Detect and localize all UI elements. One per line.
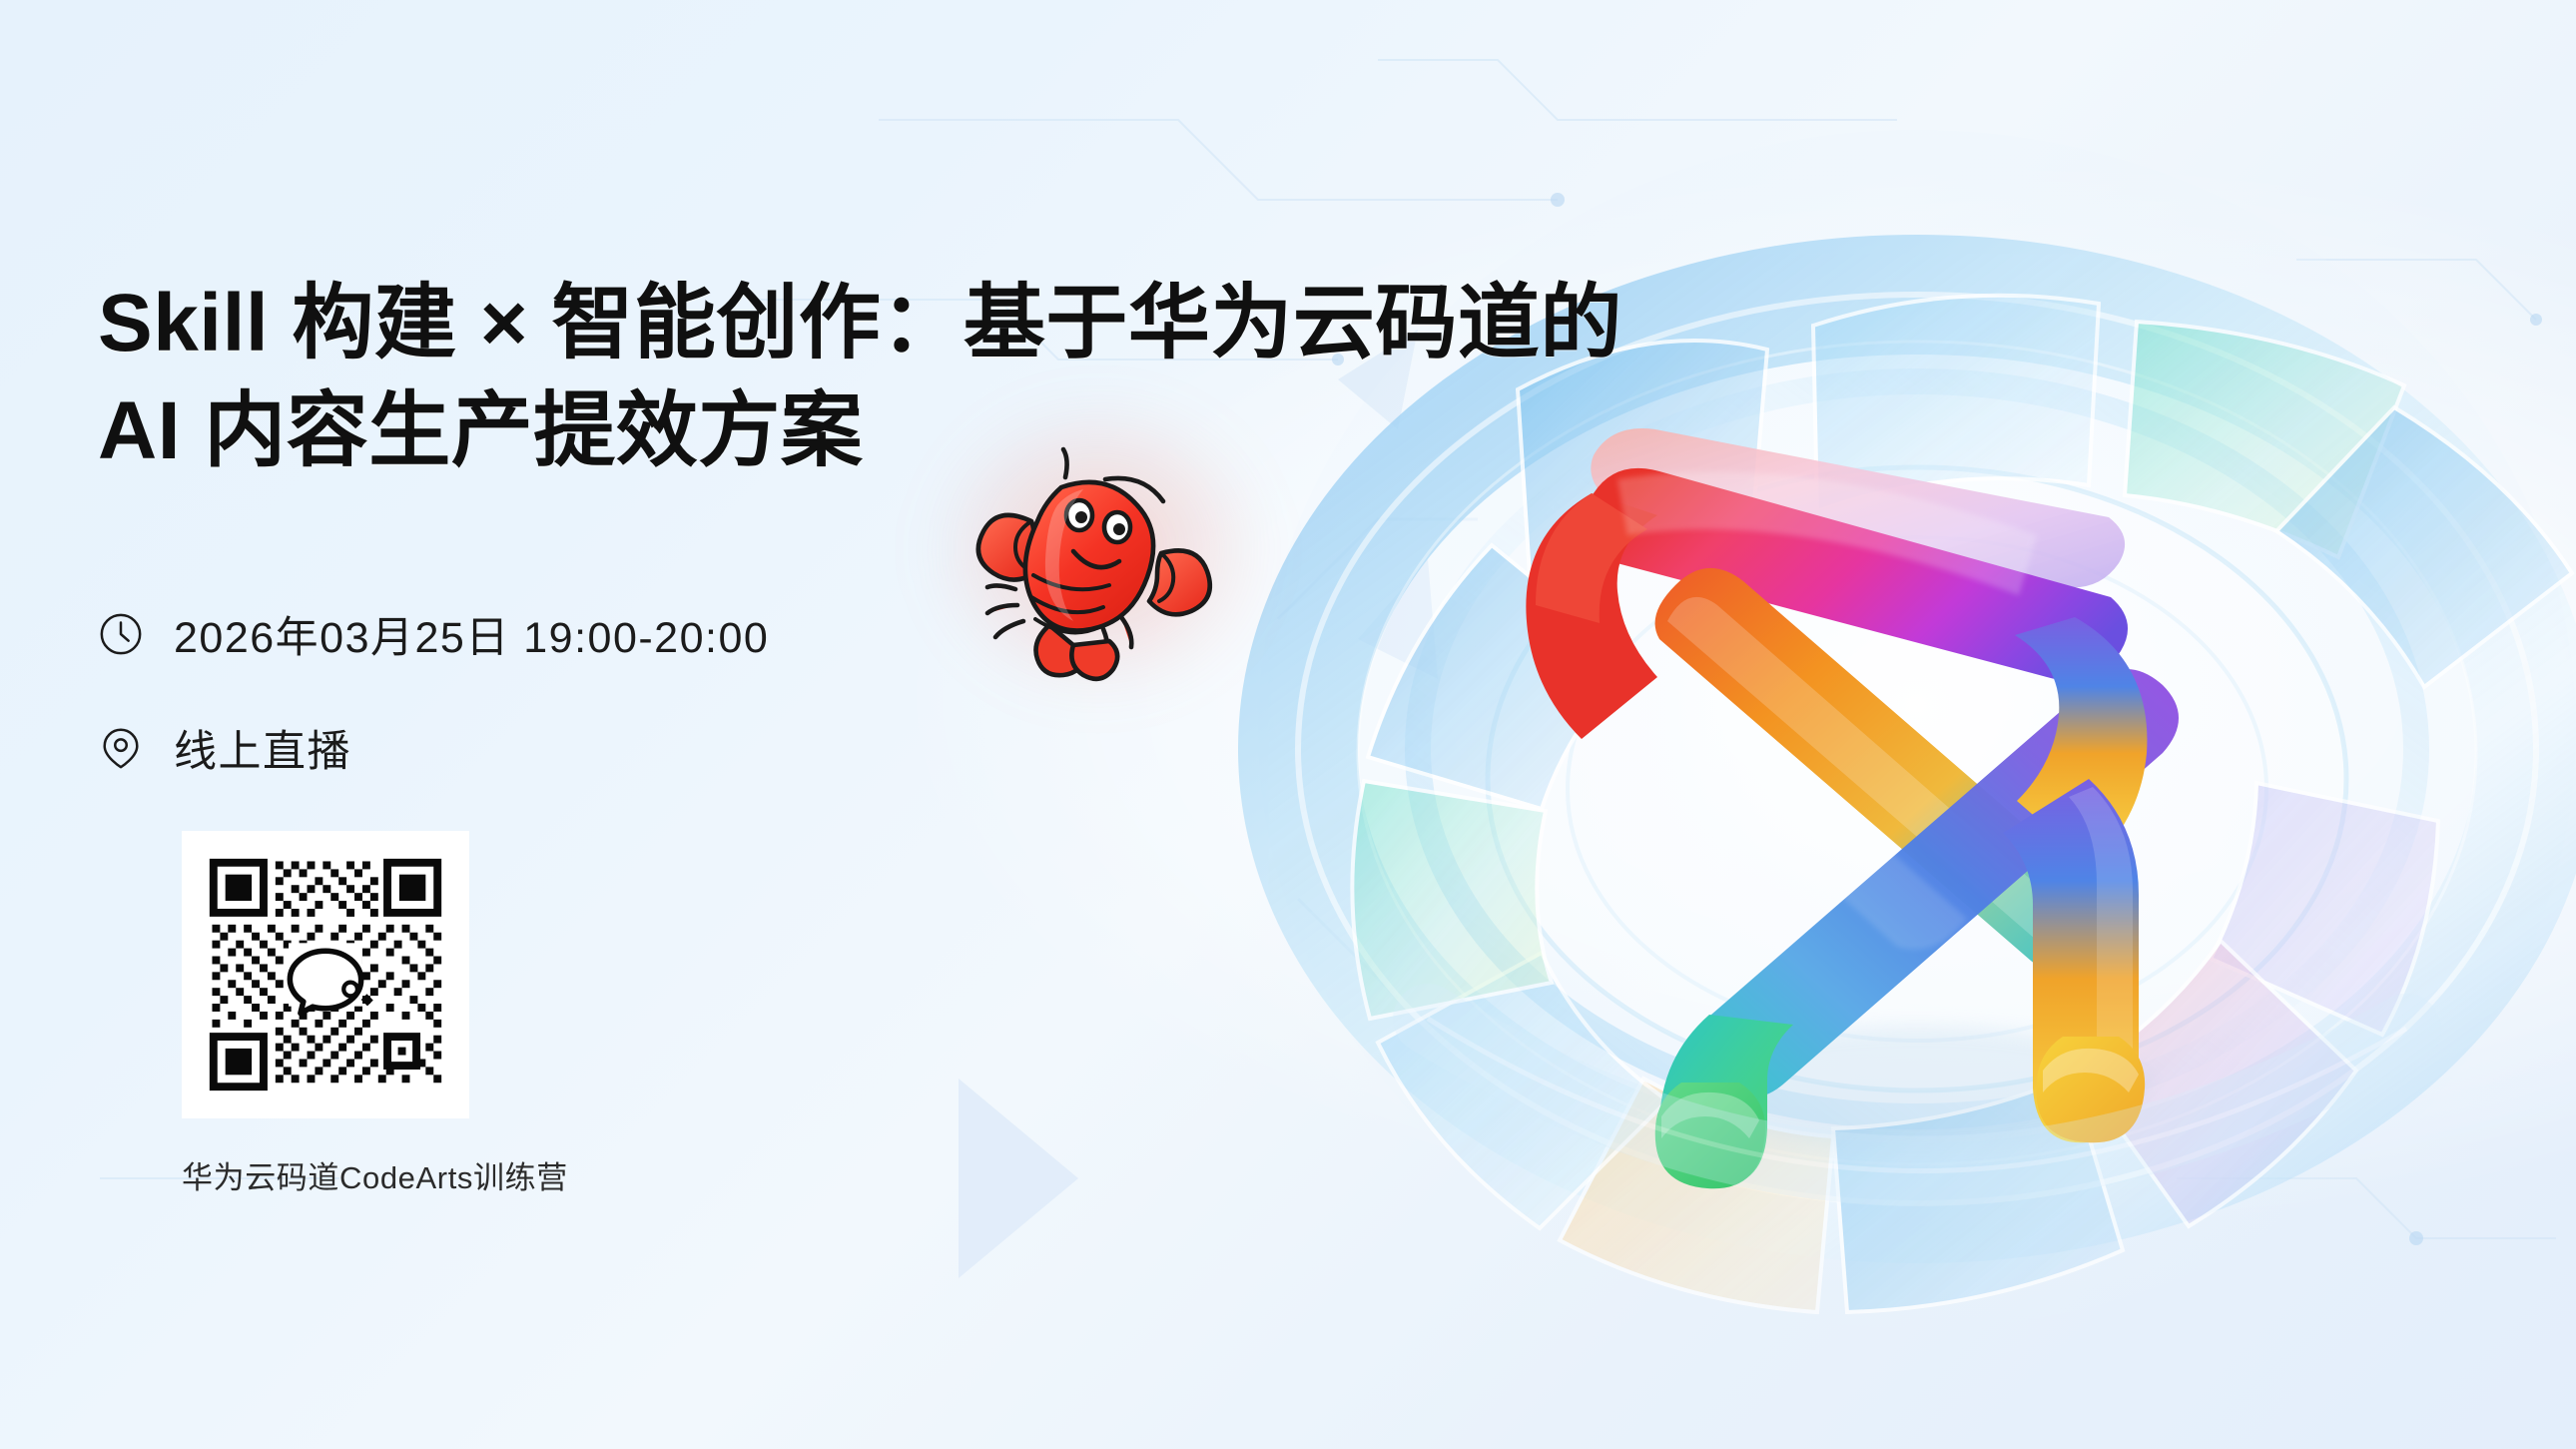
qr-caption: 华为云码道CodeArts训练营 bbox=[182, 1152, 469, 1197]
qr-code[interactable] bbox=[182, 831, 469, 1118]
content-column: Skill 构建 × 智能创作：基于华为云码道的 AI 内容生产提效方案 202… bbox=[98, 270, 1276, 1197]
headline-line-1: Skill 构建 × 智能创作：基于华为云码道的 bbox=[98, 270, 1276, 377]
lobster-mascot bbox=[954, 429, 1243, 719]
location-pin-icon bbox=[98, 725, 144, 771]
event-datetime-text: 2026年03月25日 19:00-20:00 bbox=[174, 603, 769, 665]
qr-block: 华为云码道CodeArts训练营 bbox=[182, 831, 1276, 1197]
clock-icon bbox=[98, 611, 144, 657]
chat-bubble-icon bbox=[289, 944, 373, 1014]
webinar-promo-banner: Skill 构建 × 智能创作：基于华为云码道的 AI 内容生产提效方案 202… bbox=[0, 0, 2576, 1449]
event-location-text: 线上直播 bbox=[174, 717, 351, 779]
event-location-row: 线上直播 bbox=[98, 717, 1276, 779]
